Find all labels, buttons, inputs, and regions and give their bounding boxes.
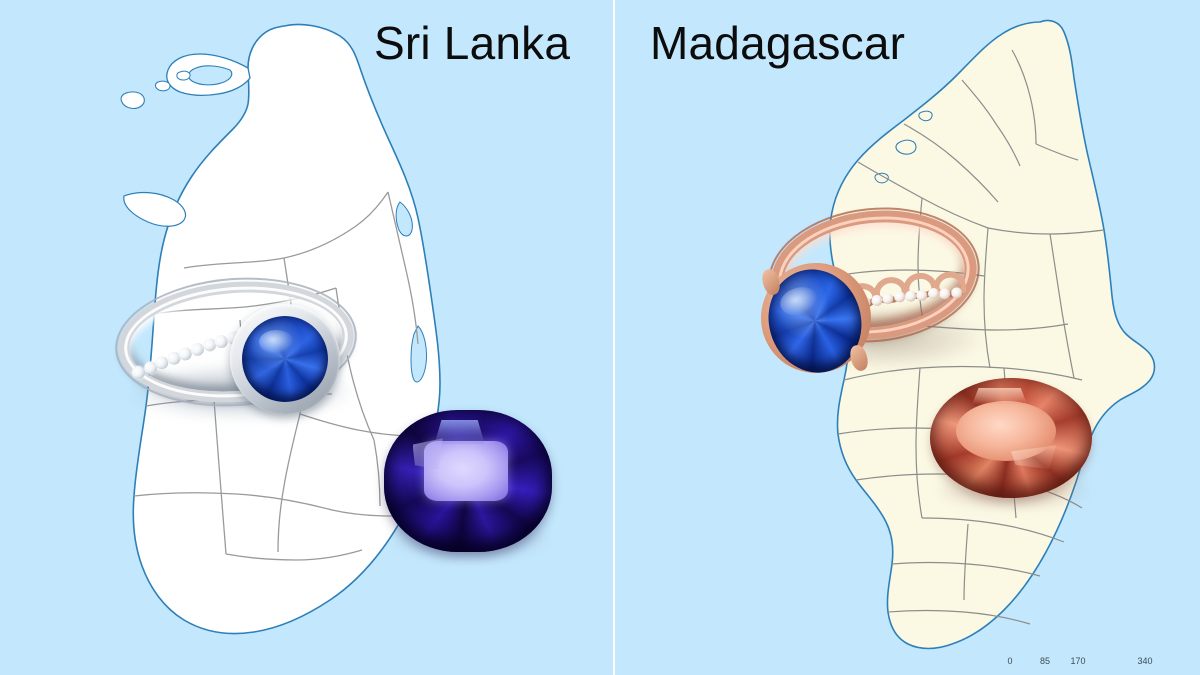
gem-body: [930, 378, 1092, 498]
pave-diamond: [904, 290, 917, 303]
rose-gold-sapphire-ring: [755, 205, 985, 375]
island-analaitivu: [177, 71, 190, 80]
comparison-figure: Sri Lanka: [0, 0, 1200, 675]
round-blue-sapphire: [242, 316, 328, 402]
white-gold-sapphire-ring: [112, 276, 360, 426]
pave-diamond: [870, 294, 883, 307]
pave-diamond: [939, 287, 952, 300]
scale-tick-0: 0: [1007, 656, 1012, 666]
island-nosy-be: [896, 140, 916, 154]
gem-crown-facet: [972, 388, 1027, 405]
pave-diamond: [950, 286, 963, 299]
map-scale-bar: 085170340: [995, 656, 1170, 674]
gem-side-facet: [413, 438, 443, 469]
panel-madagascar: Madagascar: [614, 0, 1200, 675]
island-nosy-mitsio: [919, 111, 932, 120]
scale-tick-170: 170: [1070, 656, 1085, 666]
panel-divider: [613, 0, 615, 675]
panel-sri-lanka: Sri Lanka: [0, 0, 614, 675]
pave-diamond: [882, 292, 895, 305]
pave-diamond: [916, 289, 929, 302]
scale-tick-85: 85: [1040, 656, 1050, 666]
page-title-sri-lanka: Sri Lanka: [374, 16, 570, 70]
pave-diamond: [893, 291, 906, 304]
island-karaitivu: [155, 81, 170, 91]
pave-diamond: [927, 288, 940, 301]
page-title-madagascar: Madagascar: [650, 16, 905, 70]
scale-tick-340: 340: [1137, 656, 1152, 666]
island-delft: [121, 92, 144, 109]
gem-body: [384, 410, 552, 552]
mannar-island: [124, 193, 186, 227]
padparadscha-sapphire: [930, 378, 1092, 510]
cushion-cut-blue-sapphire: [384, 410, 552, 562]
